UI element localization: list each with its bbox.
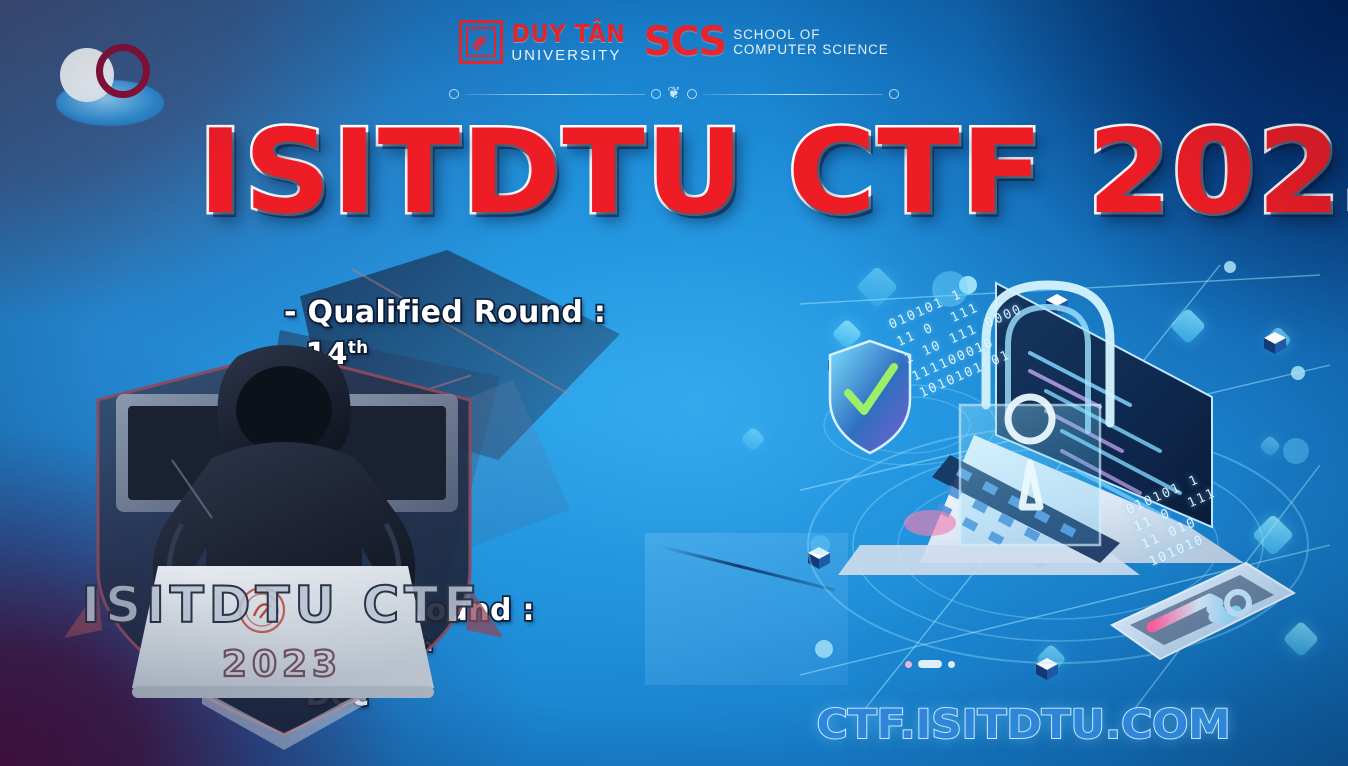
vignette-overlay [0,0,1348,766]
website-url: CTF.ISITDTU.COM [816,702,1230,748]
dtu-swirl-icon [470,31,492,53]
ctf-poster: DUY TÂN UNIVERSITY SCS SCHOOL OF COMPUTE… [0,0,1348,766]
